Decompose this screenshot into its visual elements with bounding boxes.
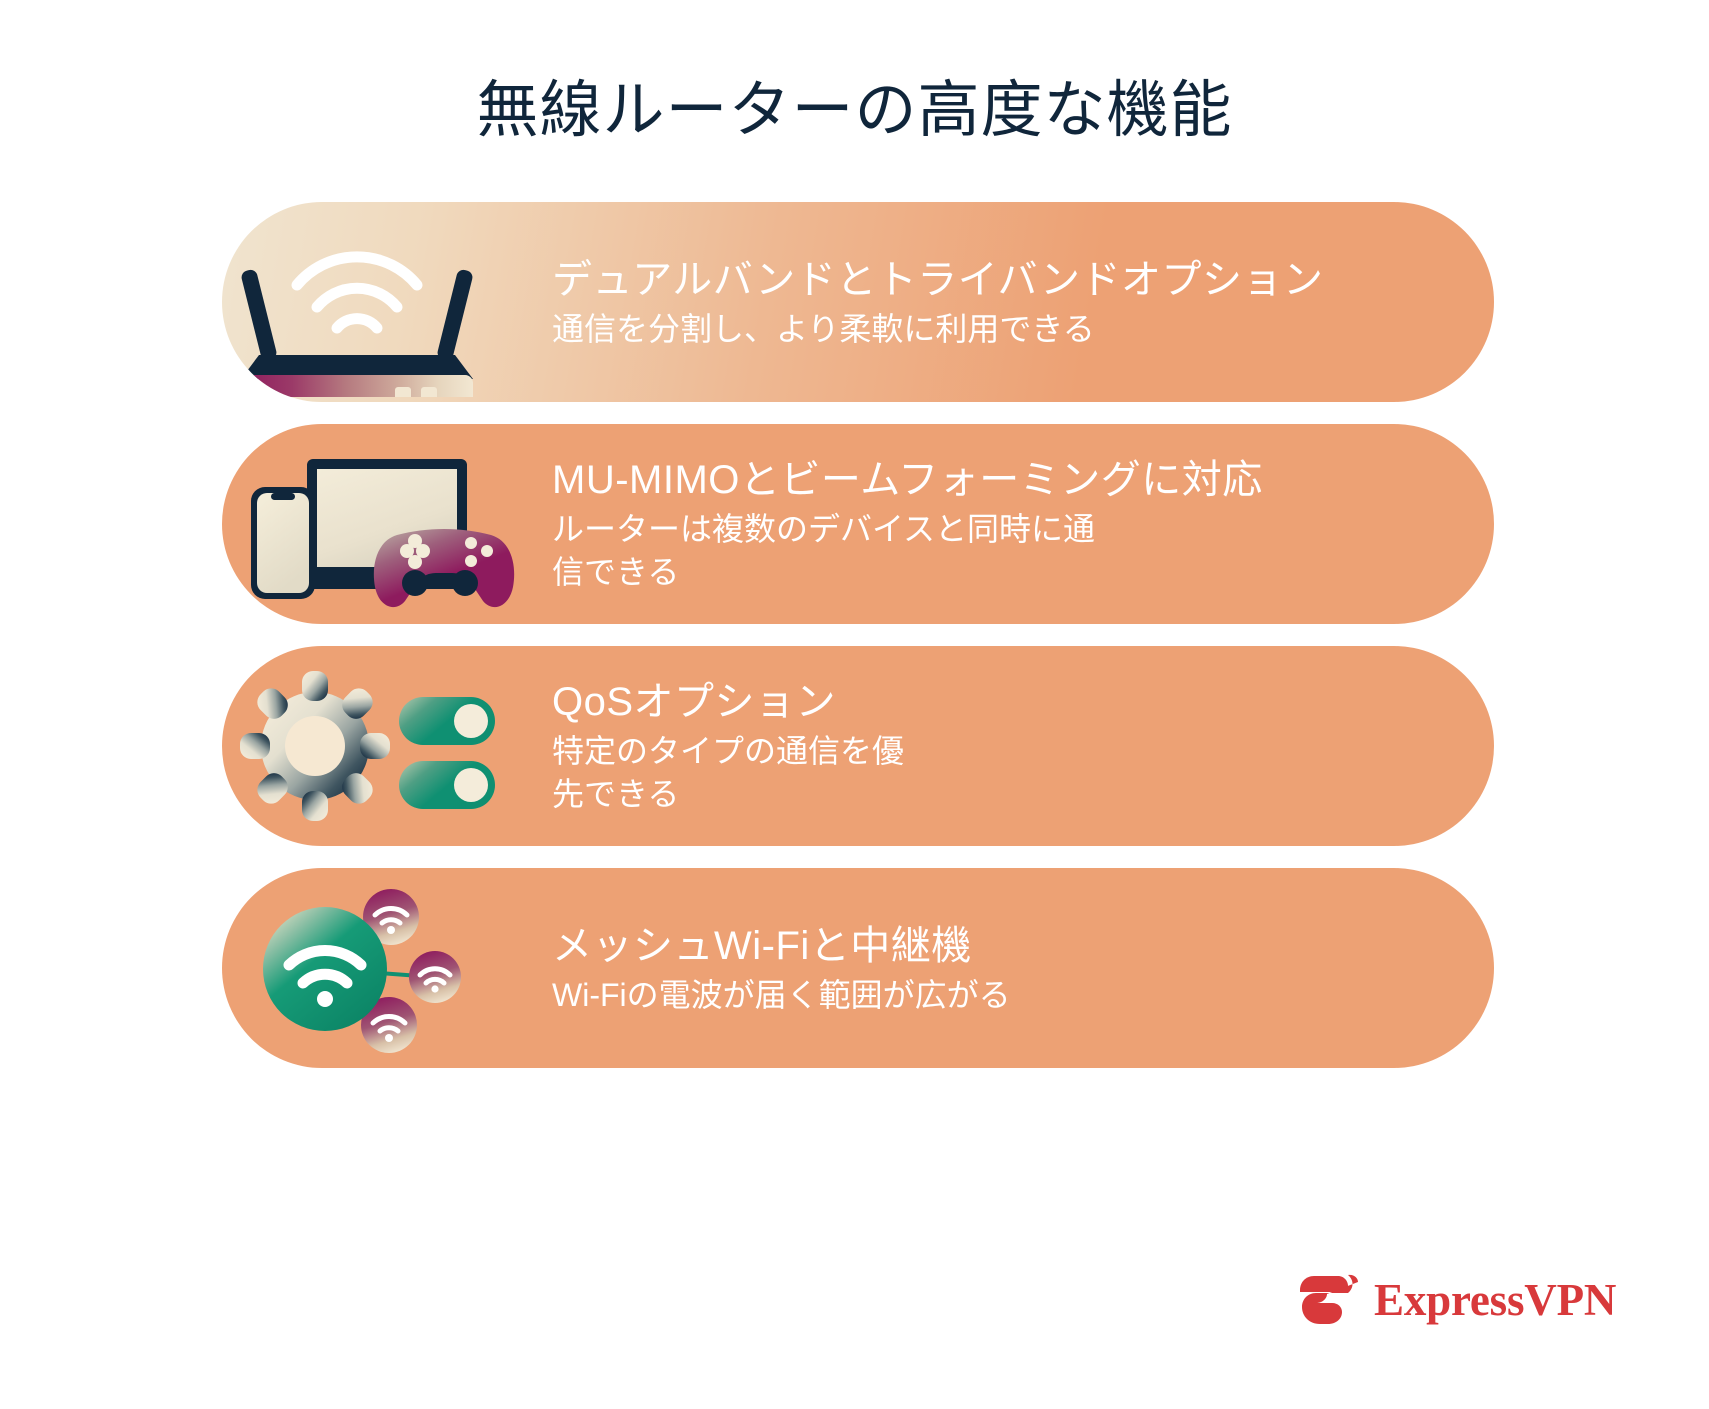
feature-card-subtitle: ルーターは複数のデバイスと同時に通 信できる — [552, 508, 1263, 594]
page-title: 無線ルーターの高度な機能 — [0, 72, 1709, 150]
feature-card-text: メッシュWi-Fiと中継機 Wi-Fiの電波が届く範囲が広がる — [552, 920, 1051, 1017]
feature-card-title: QoSオプション — [552, 676, 904, 728]
wireless-router-icon — [222, 202, 552, 402]
expressvpn-mark-icon — [1298, 1272, 1360, 1328]
infographic-page: 無線ルーターの高度な機能 — [0, 0, 1709, 1409]
feature-card-mu-mimo[interactable]: MU-MIMOとビームフォーミングに対応 ルーターは複数のデバイスと同時に通 信… — [222, 424, 1494, 624]
feature-card-text: デュアルバンドとトライバンドオプション 通信を分割し、より柔軟に利用できる — [552, 254, 1364, 351]
feature-card-text: MU-MIMOとビームフォーミングに対応 ルーターは複数のデバイスと同時に通 信… — [552, 454, 1303, 594]
expressvpn-logo: ExpressVPN — [1298, 1272, 1616, 1328]
feature-card-title: メッシュWi-Fiと中継機 — [552, 920, 1011, 972]
feature-card-list: デュアルバンドとトライバンドオプション 通信を分割し、より柔軟に利用できる — [222, 202, 1494, 1090]
expressvpn-wordmark: ExpressVPN — [1374, 1278, 1616, 1323]
feature-card-qos[interactable]: QoSオプション 特定のタイプの通信を優 先できる — [222, 646, 1494, 846]
feature-card-text: QoSオプション 特定のタイプの通信を優 先できる — [552, 676, 944, 816]
multi-device-icon — [222, 424, 552, 624]
feature-card-title: MU-MIMOとビームフォーミングに対応 — [552, 454, 1263, 506]
feature-card-title: デュアルバンドとトライバンドオプション — [552, 254, 1324, 306]
feature-card-subtitle: 特定のタイプの通信を優 先できる — [552, 730, 904, 816]
mesh-wifi-icon — [222, 868, 552, 1068]
feature-card-subtitle: Wi-Fiの電波が届く範囲が広がる — [552, 974, 1011, 1017]
feature-card-subtitle: 通信を分割し、より柔軟に利用できる — [552, 308, 1324, 351]
feature-card-dual-band[interactable]: デュアルバンドとトライバンドオプション 通信を分割し、より柔軟に利用できる — [222, 202, 1494, 402]
gear-toggles-icon — [222, 646, 552, 846]
feature-card-mesh-wifi[interactable]: メッシュWi-Fiと中継機 Wi-Fiの電波が届く範囲が広がる — [222, 868, 1494, 1068]
